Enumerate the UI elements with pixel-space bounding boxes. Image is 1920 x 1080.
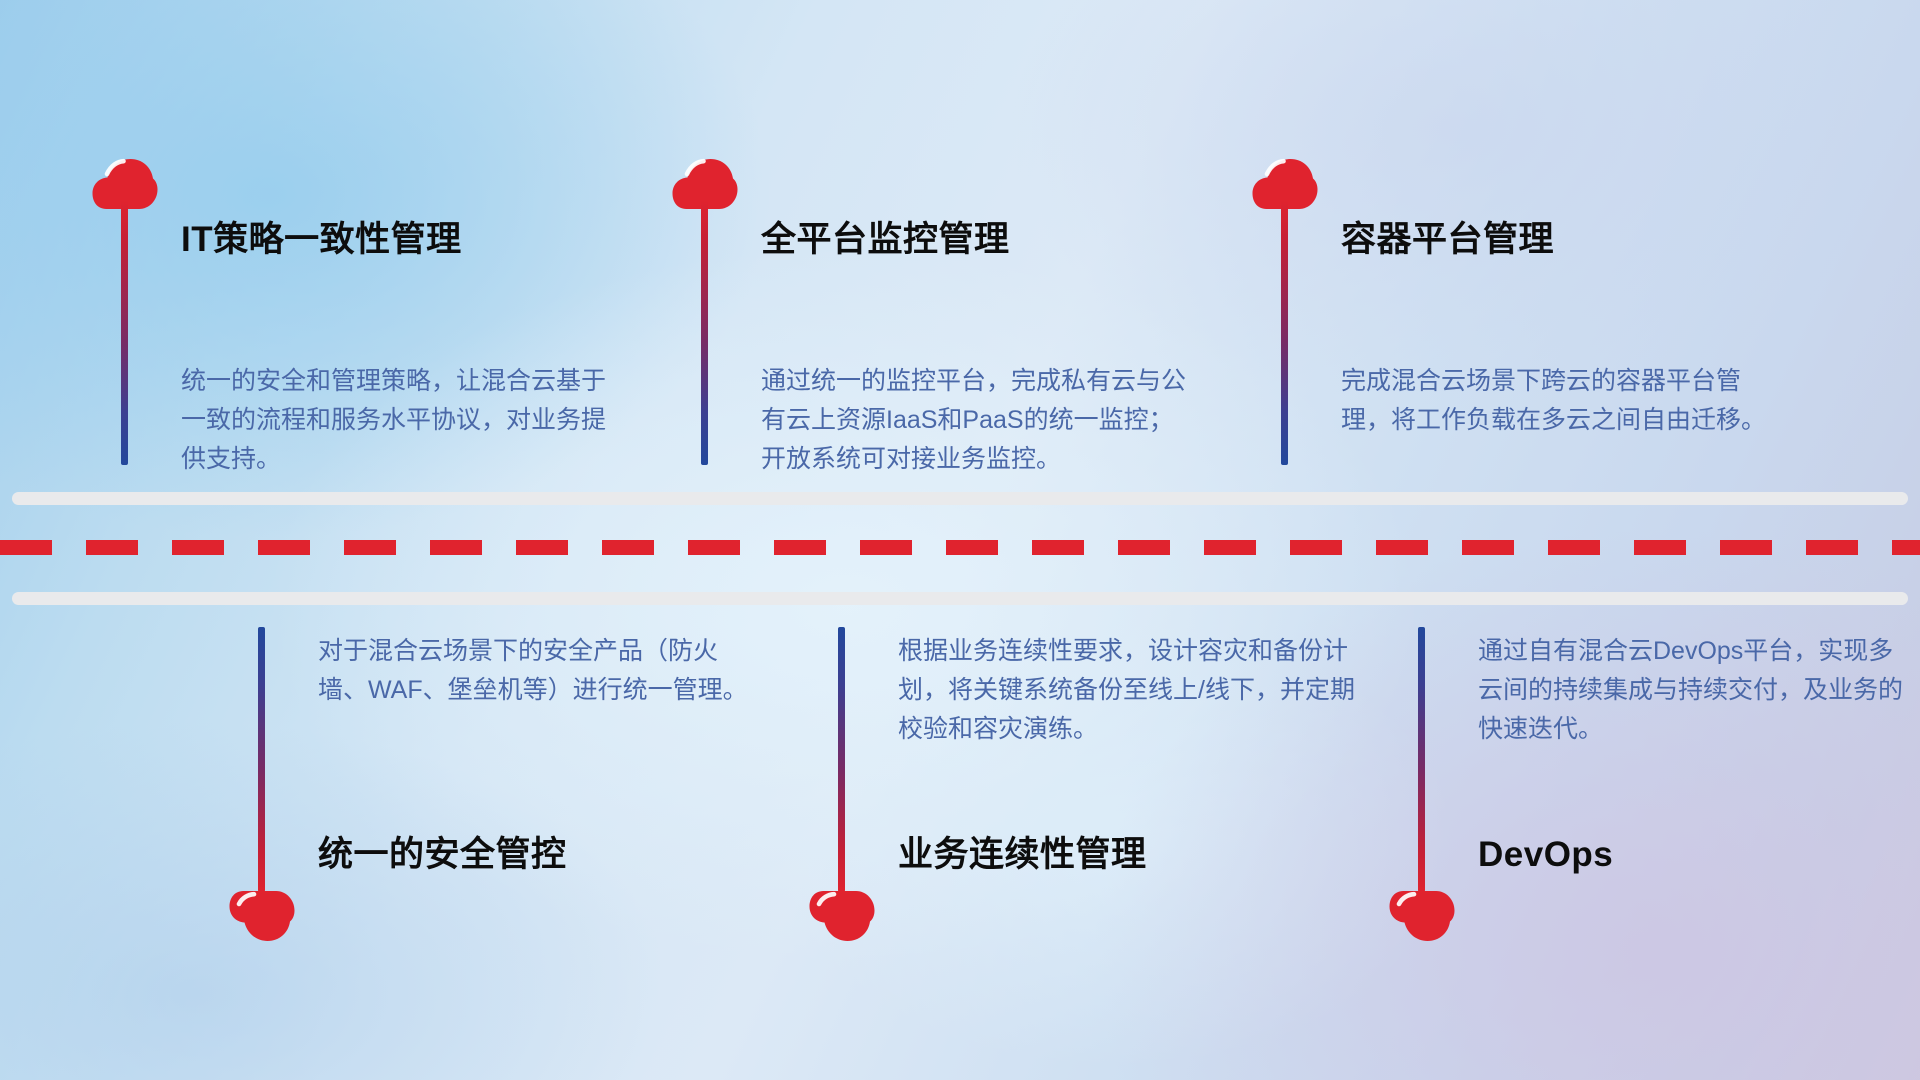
connector-stem — [701, 200, 708, 465]
top-item-2-heading: 全平台监控管理 — [761, 222, 1010, 257]
top-item-1-body: 统一的安全和管理策略，让混合云基于一致的流程和服务水平协议，对业务提供支持。 — [181, 362, 611, 478]
infographic-canvas: IT策略一致性管理 统一的安全和管理策略，让混合云基于一致的流程和服务水平协议，… — [0, 0, 1920, 1080]
connector-stem — [1418, 627, 1425, 892]
top-item-3-body: 完成混合云场景下跨云的容器平台管理，将工作负载在多云之间自由迁移。 — [1341, 362, 1771, 440]
bottom-item-1-body: 对于混合云场景下的安全产品（防火墙、WAF、堡垒机等）进行统一管理。 — [318, 632, 748, 710]
divider-dashed-red — [0, 540, 1920, 555]
bottom-item-3-heading: DevOps — [1478, 837, 1613, 872]
cloud-icon — [1389, 890, 1455, 942]
cloud-icon — [229, 890, 295, 942]
divider-line-lower — [12, 592, 1908, 605]
divider-line-upper — [12, 492, 1908, 505]
bottom-item-3-body: 通过自有混合云DevOps平台，实现多云间的持续集成与持续交付，及业务的快速迭代… — [1478, 632, 1908, 748]
connector-stem — [838, 627, 845, 892]
top-item-1-heading: IT策略一致性管理 — [181, 222, 462, 257]
connector-stem — [1281, 200, 1288, 465]
connector-stem — [258, 627, 265, 892]
bottom-item-2-body: 根据业务连续性要求，设计容灾和备份计划，将关键系统备份至线上/线下，并定期校验和… — [898, 632, 1368, 748]
top-item-2-body: 通过统一的监控平台，完成私有云与公有云上资源IaaS和PaaS的统一监控；开放系… — [761, 362, 1191, 478]
bottom-item-1-heading: 统一的安全管控 — [318, 837, 567, 872]
cloud-icon — [809, 890, 875, 942]
top-item-3-heading: 容器平台管理 — [1341, 222, 1554, 257]
bottom-item-2-heading: 业务连续性管理 — [898, 837, 1147, 872]
connector-stem — [121, 200, 128, 465]
